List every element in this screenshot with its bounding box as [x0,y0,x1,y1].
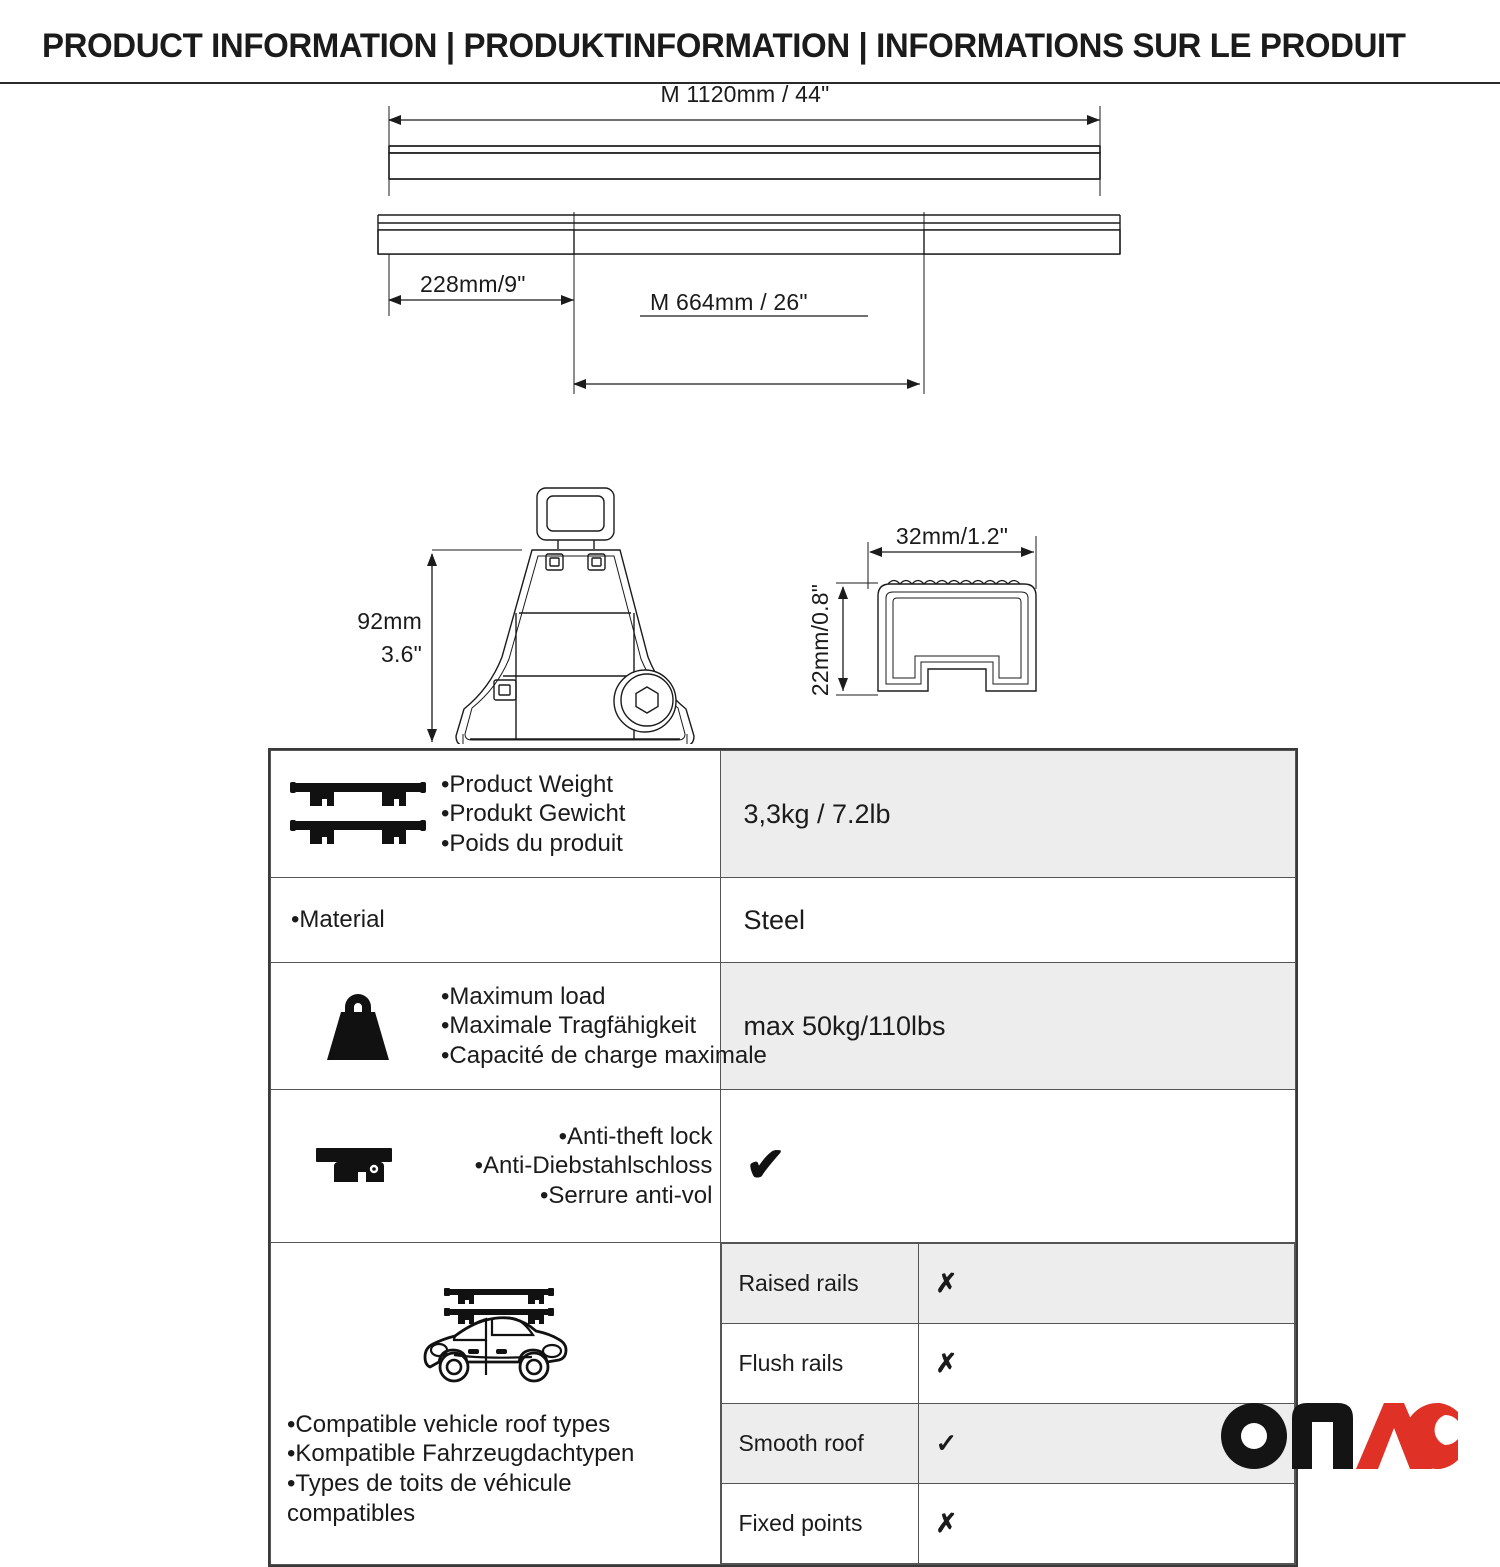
spec-value-maxload: max 50kg/110lbs [721,1001,1295,1052]
spec-label-cell-maxload: •Maximum load •Maximale Tragfähigkeit •C… [271,963,721,1090]
dim-foot-offset: 228mm/9" [420,271,526,297]
spec-value-cell-weight: 3,3kg / 7.2lb [721,751,1296,878]
technical-drawings: M 1120mm / 44" 228mm/9" M 664mm / 26" 92… [0,84,1500,744]
table-row: •Anti-theft lock •Anti-Diebstahlschloss … [271,1090,1296,1243]
compat-option-label: Raised rails [722,1244,919,1324]
omac-logo-mark [1220,1400,1460,1472]
compat-label-cell: •Compatible vehicle roof types •Kompatib… [271,1243,721,1565]
spec-label-cell-antitheft: •Anti-theft lock •Anti-Diebstahlschloss … [271,1090,721,1243]
table-row: •Product Weight •Produkt Gewicht •Poids … [271,751,1296,878]
dim-profile-height: 22mm/0.8" [807,584,833,696]
spec-label-cell-weight: •Product Weight •Produkt Gewicht •Poids … [271,751,721,878]
roof-bars-icon [283,777,433,851]
compat-row-fixed-points: Fixed points ✗ [722,1484,1295,1564]
spec-label-maxload: •Maximum load •Maximale Tragfähigkeit •C… [441,982,767,1070]
compat-row-smooth-roof: Smooth roof ✓ [722,1404,1295,1484]
spec-label-cell-material: •Material [271,878,721,963]
dim-profile-width: 32mm/1.2" [896,523,1008,549]
spec-value-material: Steel [721,895,1295,946]
compat-option-mark: ✗ [919,1244,1295,1324]
spec-label-weight: •Product Weight •Produkt Gewicht •Poids … [441,770,712,858]
weight-icon [283,988,433,1064]
compat-options-table: Raised rails ✗ Flush rails ✗ Smooth roof… [721,1243,1295,1564]
compat-option-label: Smooth roof [722,1404,919,1484]
spec-label-antitheft: •Anti-theft lock •Anti-Diebstahlschloss … [441,1122,712,1210]
compat-option-mark: ✗ [919,1324,1295,1404]
spec-value-weight: 3,3kg / 7.2lb [721,789,1295,840]
compat-options-cell: Raised rails ✗ Flush rails ✗ Smooth roof… [721,1243,1296,1565]
spec-value-cell-maxload: max 50kg/110lbs [721,963,1296,1090]
dim-bar-length: M 1120mm / 44" [660,84,829,107]
compat-option-mark: ✗ [919,1484,1295,1564]
table-row: •Maximum load •Maximale Tragfähigkeit •C… [271,963,1296,1090]
compat-row-flush-rails: Flush rails ✗ [722,1324,1295,1404]
compat-option-label: Fixed points [722,1484,919,1564]
compat-label-text: •Compatible vehicle roof types •Kompatib… [281,1410,710,1529]
compat-row-raised-rails: Raised rails ✗ [722,1244,1295,1324]
table-row: •Material Steel [271,878,1296,963]
spec-value-cell-antitheft: ✔ [721,1090,1296,1243]
spec-value-cell-material: Steel [721,878,1296,963]
compat-option-label: Flush rails [722,1324,919,1404]
dim-tower-height-2: 3.6" [381,641,422,667]
product-information-sheet: PRODUCT INFORMATION | PRODUKTINFORMATION… [0,0,1500,1500]
dim-tower-height-1: 92mm [357,608,422,634]
page-title: PRODUCT INFORMATION | PRODUKTINFORMATION… [42,27,1419,66]
dim-bar-span: M 664mm / 26" [650,289,808,315]
lock-foot-icon [283,1136,433,1196]
spec-label-material: •Material [291,905,712,934]
omac-logo [1220,1400,1460,1472]
table-row-compat: •Compatible vehicle roof types •Kompatib… [271,1243,1296,1565]
specification-table: •Product Weight •Produkt Gewicht •Poids … [268,748,1298,1567]
checkmark-icon: ✔ [739,1142,785,1190]
car-with-roof-bars-icon [406,1378,586,1395]
